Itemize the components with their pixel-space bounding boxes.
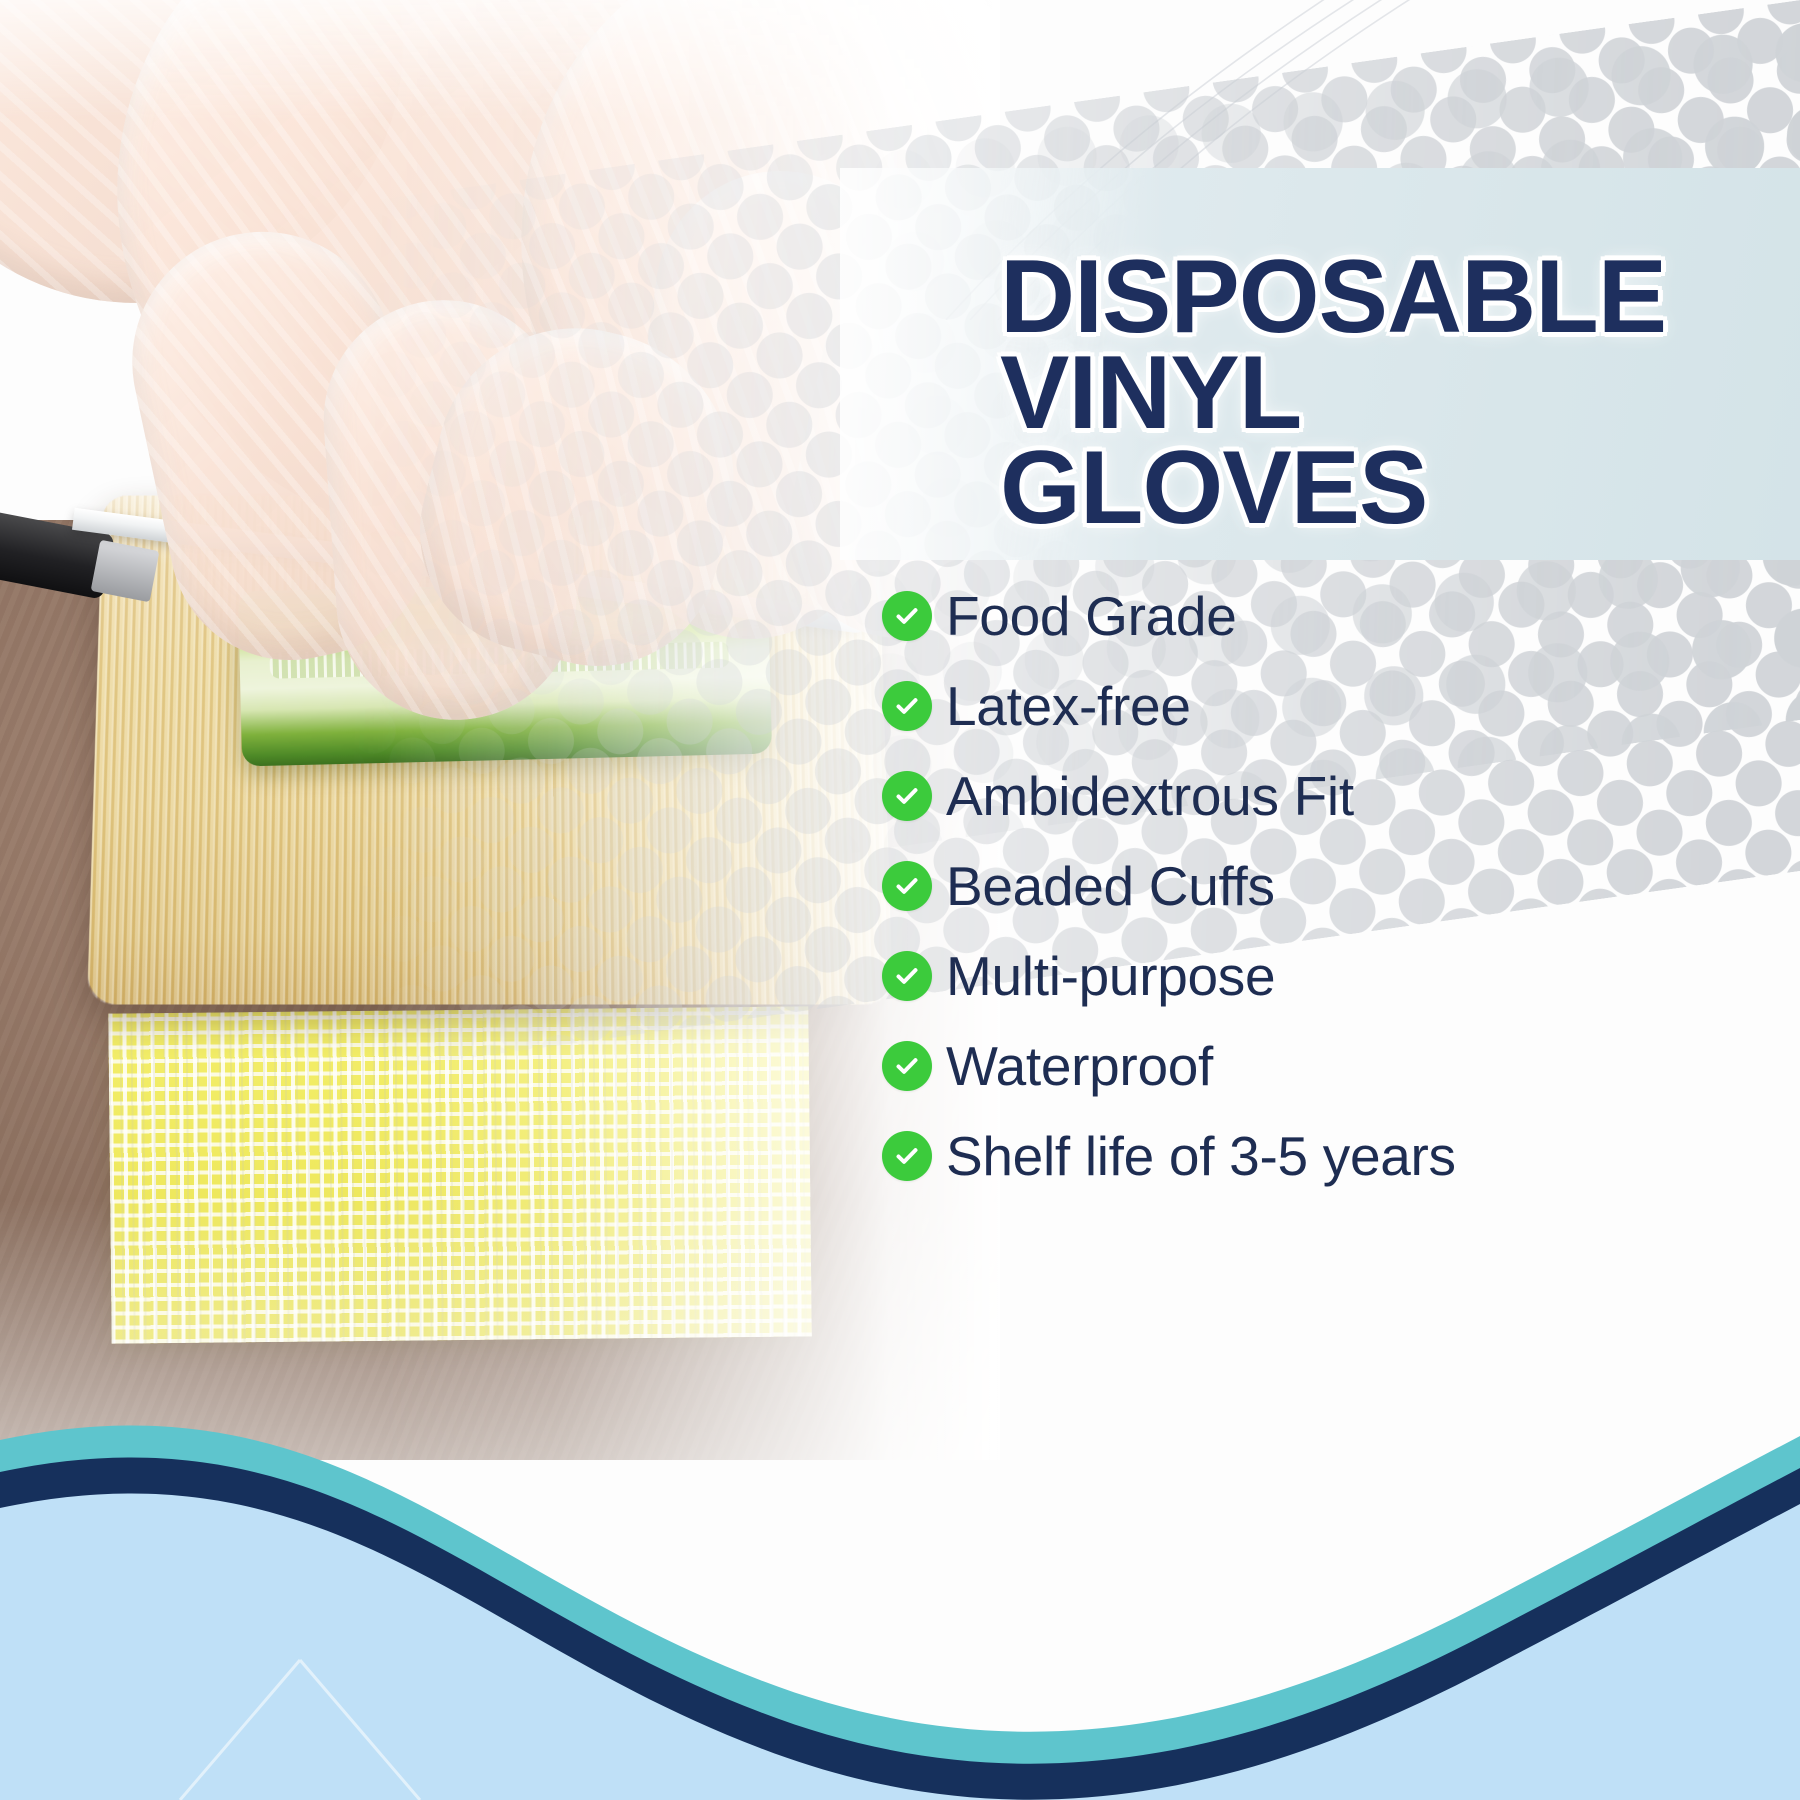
poster-canvas: DISPOSABLE VINYL GLOVES Food Grade Latex… xyxy=(0,0,1800,1800)
check-circle-icon xyxy=(882,1131,932,1181)
check-circle-icon xyxy=(882,1041,932,1091)
feature-item: Multi-purpose xyxy=(882,945,1782,1007)
bottom-wave-decoration xyxy=(0,1240,1800,1800)
feature-label: Latex-free xyxy=(946,674,1191,738)
feature-list: Food Grade Latex-free Ambidextrous Fit B… xyxy=(882,585,1782,1215)
feature-item: Food Grade xyxy=(882,585,1782,647)
feature-item: Beaded Cuffs xyxy=(882,855,1782,917)
feature-label: Waterproof xyxy=(946,1034,1213,1098)
feature-label: Ambidextrous Fit xyxy=(946,764,1354,828)
feature-label: Beaded Cuffs xyxy=(946,854,1275,918)
knife-ferrule xyxy=(91,540,160,602)
check-circle-icon xyxy=(882,591,932,641)
title-line-1: DISPOSABLE xyxy=(1000,250,1760,346)
feature-item: Ambidextrous Fit xyxy=(882,765,1782,827)
feature-item: Waterproof xyxy=(882,1035,1782,1097)
check-circle-icon xyxy=(882,951,932,1001)
feature-label: Food Grade xyxy=(946,584,1237,648)
feature-label: Multi-purpose xyxy=(946,944,1275,1008)
check-circle-icon xyxy=(882,861,932,911)
page-title: DISPOSABLE VINYL GLOVES xyxy=(1000,250,1760,537)
feature-label: Shelf life of 3-5 years xyxy=(946,1124,1456,1188)
title-line-2: VINYL xyxy=(1000,346,1760,442)
feature-item: Latex-free xyxy=(882,675,1782,737)
title-line-3: GLOVES xyxy=(1000,441,1760,537)
feature-item: Shelf life of 3-5 years xyxy=(882,1125,1782,1187)
check-circle-icon xyxy=(882,771,932,821)
check-circle-icon xyxy=(882,681,932,731)
